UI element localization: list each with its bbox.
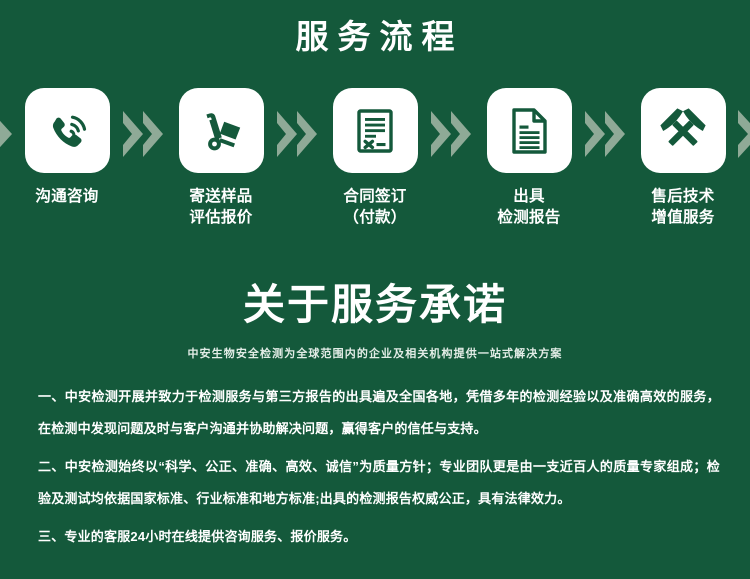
page-title: 服务流程: [0, 14, 750, 60]
promise-paragraph-3: 三、专业的客服24小时在线提供咨询服务、报价服务。: [38, 521, 720, 553]
flow-step-1[interactable]: 沟通咨询: [19, 88, 115, 207]
flow-step-2[interactable]: 寄送样品 评估报价: [173, 88, 269, 228]
flow-step-label-2: 寄送样品 评估报价: [189, 186, 252, 228]
flow-step-label-1: 沟通咨询: [35, 186, 98, 207]
flow-step-label-5: 售后技术 增值服务: [651, 186, 714, 228]
promise-heading: 关于服务承诺: [0, 277, 750, 333]
flow-step-4[interactable]: 出具 检测报告: [481, 88, 577, 228]
promise-paragraph-2: 二、中安检测始终以“科学、公正、准确、高效、诚信”为质量方针；专业团队更是由一支…: [38, 451, 720, 515]
service-flow-row: 沟通咨询 寄送样品 评估报价: [0, 88, 750, 233]
hand-truck-icon: [195, 105, 247, 157]
report-document-icon: [503, 105, 555, 157]
promise-paragraph-1: 一、中安检测开展并致力于检测服务与第三方报告的出具遍及全国各地，凭借多年的检测经…: [38, 381, 720, 445]
service-process-poster: 服务流程 沟通咨询: [0, 0, 750, 579]
icon-box-1: [25, 88, 110, 173]
chevron-double-icon-4: [577, 90, 635, 178]
icon-box-3: [333, 88, 418, 173]
chevron-single-icon-leading: [0, 90, 19, 178]
promise-body: 一、中安检测开展并致力于检测服务与第三方报告的出具遍及全国各地，凭借多年的检测经…: [38, 381, 720, 559]
chevron-single-icon-trailing: [731, 90, 750, 178]
icon-box-4: [487, 88, 572, 173]
icon-box-2: [179, 88, 264, 173]
flow-step-3[interactable]: 合同签订 （付款）: [327, 88, 423, 228]
icon-box-5: [641, 88, 726, 173]
contract-sign-icon: [349, 105, 401, 157]
phone-call-icon: [41, 105, 93, 157]
chevron-double-icon-3: [423, 90, 481, 178]
flow-step-label-3: 合同签订 （付款）: [343, 186, 406, 228]
promise-subtitle: 中安生物安全检测为全球范围内的企业及相关机构提供一站式解决方案: [0, 346, 750, 362]
chevron-double-icon-2: [269, 90, 327, 178]
flow-step-5[interactable]: 售后技术 增值服务: [635, 88, 731, 228]
hammers-tools-icon: [657, 105, 709, 157]
chevron-double-icon-1: [115, 90, 173, 178]
flow-step-label-4: 出具 检测报告: [497, 186, 560, 228]
